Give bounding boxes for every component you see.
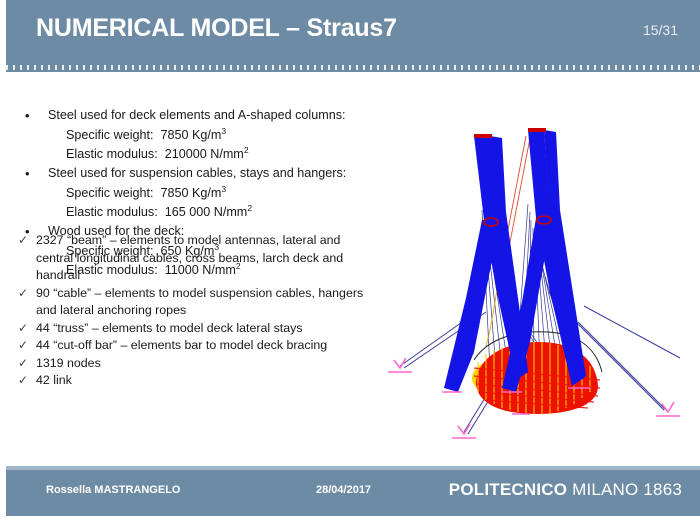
- property-value: 165 000 N/mm: [165, 205, 248, 219]
- element-count-item: ✓2327 “beam” – elements to model antenna…: [14, 232, 376, 285]
- check-marker-icon: ✓: [14, 372, 36, 390]
- element-count-text: 44 “cut-off bar” – elements bar to model…: [36, 337, 372, 355]
- brand-name-bold: POLITECNICO: [449, 480, 567, 499]
- footer-brand: POLITECNICO MILANO 1863: [449, 480, 682, 500]
- property-value: 7850 Kg/m: [161, 186, 222, 200]
- page-title: NUMERICAL MODEL – Straus7: [36, 14, 397, 43]
- property-value: 210000 N/mm: [165, 147, 244, 161]
- check-marker-icon: ✓: [14, 337, 36, 355]
- header-dash-divider: [6, 65, 700, 70]
- footer-date: 28/04/2017: [316, 484, 371, 496]
- bullet-marker-icon: •: [14, 164, 48, 183]
- property-unit-exponent: 2: [244, 145, 249, 155]
- property-label: Specific weight:: [66, 128, 154, 142]
- material-property-text: Specific weight: 7850 Kg/m3: [66, 126, 226, 145]
- check-marker-icon: ✓: [14, 232, 36, 250]
- material-bullet-heading: Steel used for deck elements and A-shape…: [48, 106, 346, 125]
- slide-header: NUMERICAL MODEL – Straus7 15/31: [6, 0, 700, 72]
- brand-name-rest: MILANO 1863: [567, 480, 682, 499]
- element-count-text: 90 “cable” – elements to model suspensio…: [36, 285, 372, 320]
- element-count-text: 1319 nodes: [36, 355, 372, 373]
- element-count-item: ✓1319 nodes: [14, 355, 376, 373]
- property-label: Elastic modulus:: [66, 147, 158, 161]
- property-unit-exponent: 2: [247, 203, 252, 213]
- property-unit-exponent: 3: [221, 184, 226, 194]
- element-count-item: ✓90 “cable” – elements to model suspensi…: [14, 285, 376, 320]
- material-property-line: Elastic modulus: 210000 N/mm2: [14, 145, 374, 164]
- material-property-line: Specific weight: 7850 Kg/m3: [14, 184, 374, 203]
- material-bullet-heading: Steel used for suspension cables, stays …: [48, 164, 346, 183]
- material-property-text: Elastic modulus: 210000 N/mm2: [66, 145, 249, 164]
- page-number: 15/31: [643, 22, 678, 38]
- material-property-line: Elastic modulus: 165 000 N/mm2: [14, 203, 374, 222]
- slide: NUMERICAL MODEL – Straus7 15/31 •Steel u…: [0, 0, 700, 522]
- material-property-text: Specific weight: 7850 Kg/m3: [66, 184, 226, 203]
- material-bullet: •Steel used for deck elements and A-shap…: [14, 106, 374, 125]
- slide-footer: Rossella MASTRANGELO 28/04/2017 POLITECN…: [6, 470, 700, 516]
- material-bullet: •Steel used for suspension cables, stays…: [14, 164, 374, 183]
- element-count-text: 2327 “beam” – elements to model antennas…: [36, 232, 372, 285]
- element-count-item: ✓44 “cut-off bar” – elements bar to mode…: [14, 337, 376, 355]
- element-count-text: 44 “truss” – elements to model deck late…: [36, 320, 372, 338]
- check-marker-icon: ✓: [14, 320, 36, 338]
- footer-author: Rossella MASTRANGELO: [46, 484, 180, 496]
- property-label: Specific weight:: [66, 186, 154, 200]
- property-label: Elastic modulus:: [66, 205, 158, 219]
- numerical-model-figure: [378, 92, 696, 464]
- property-value: 7850 Kg/m: [161, 128, 222, 142]
- material-property-text: Elastic modulus: 165 000 N/mm2: [66, 203, 252, 222]
- element-count-list: ✓2327 “beam” – elements to model antenna…: [14, 232, 376, 390]
- element-count-item: ✓44 “truss” – elements to model deck lat…: [14, 320, 376, 338]
- property-unit-exponent: 3: [221, 126, 226, 136]
- check-marker-icon: ✓: [14, 285, 36, 303]
- check-marker-icon: ✓: [14, 355, 36, 373]
- element-count-item: ✓42 link: [14, 372, 376, 390]
- bullet-marker-icon: •: [14, 106, 48, 125]
- material-property-line: Specific weight: 7850 Kg/m3: [14, 126, 374, 145]
- element-count-text: 42 link: [36, 372, 372, 390]
